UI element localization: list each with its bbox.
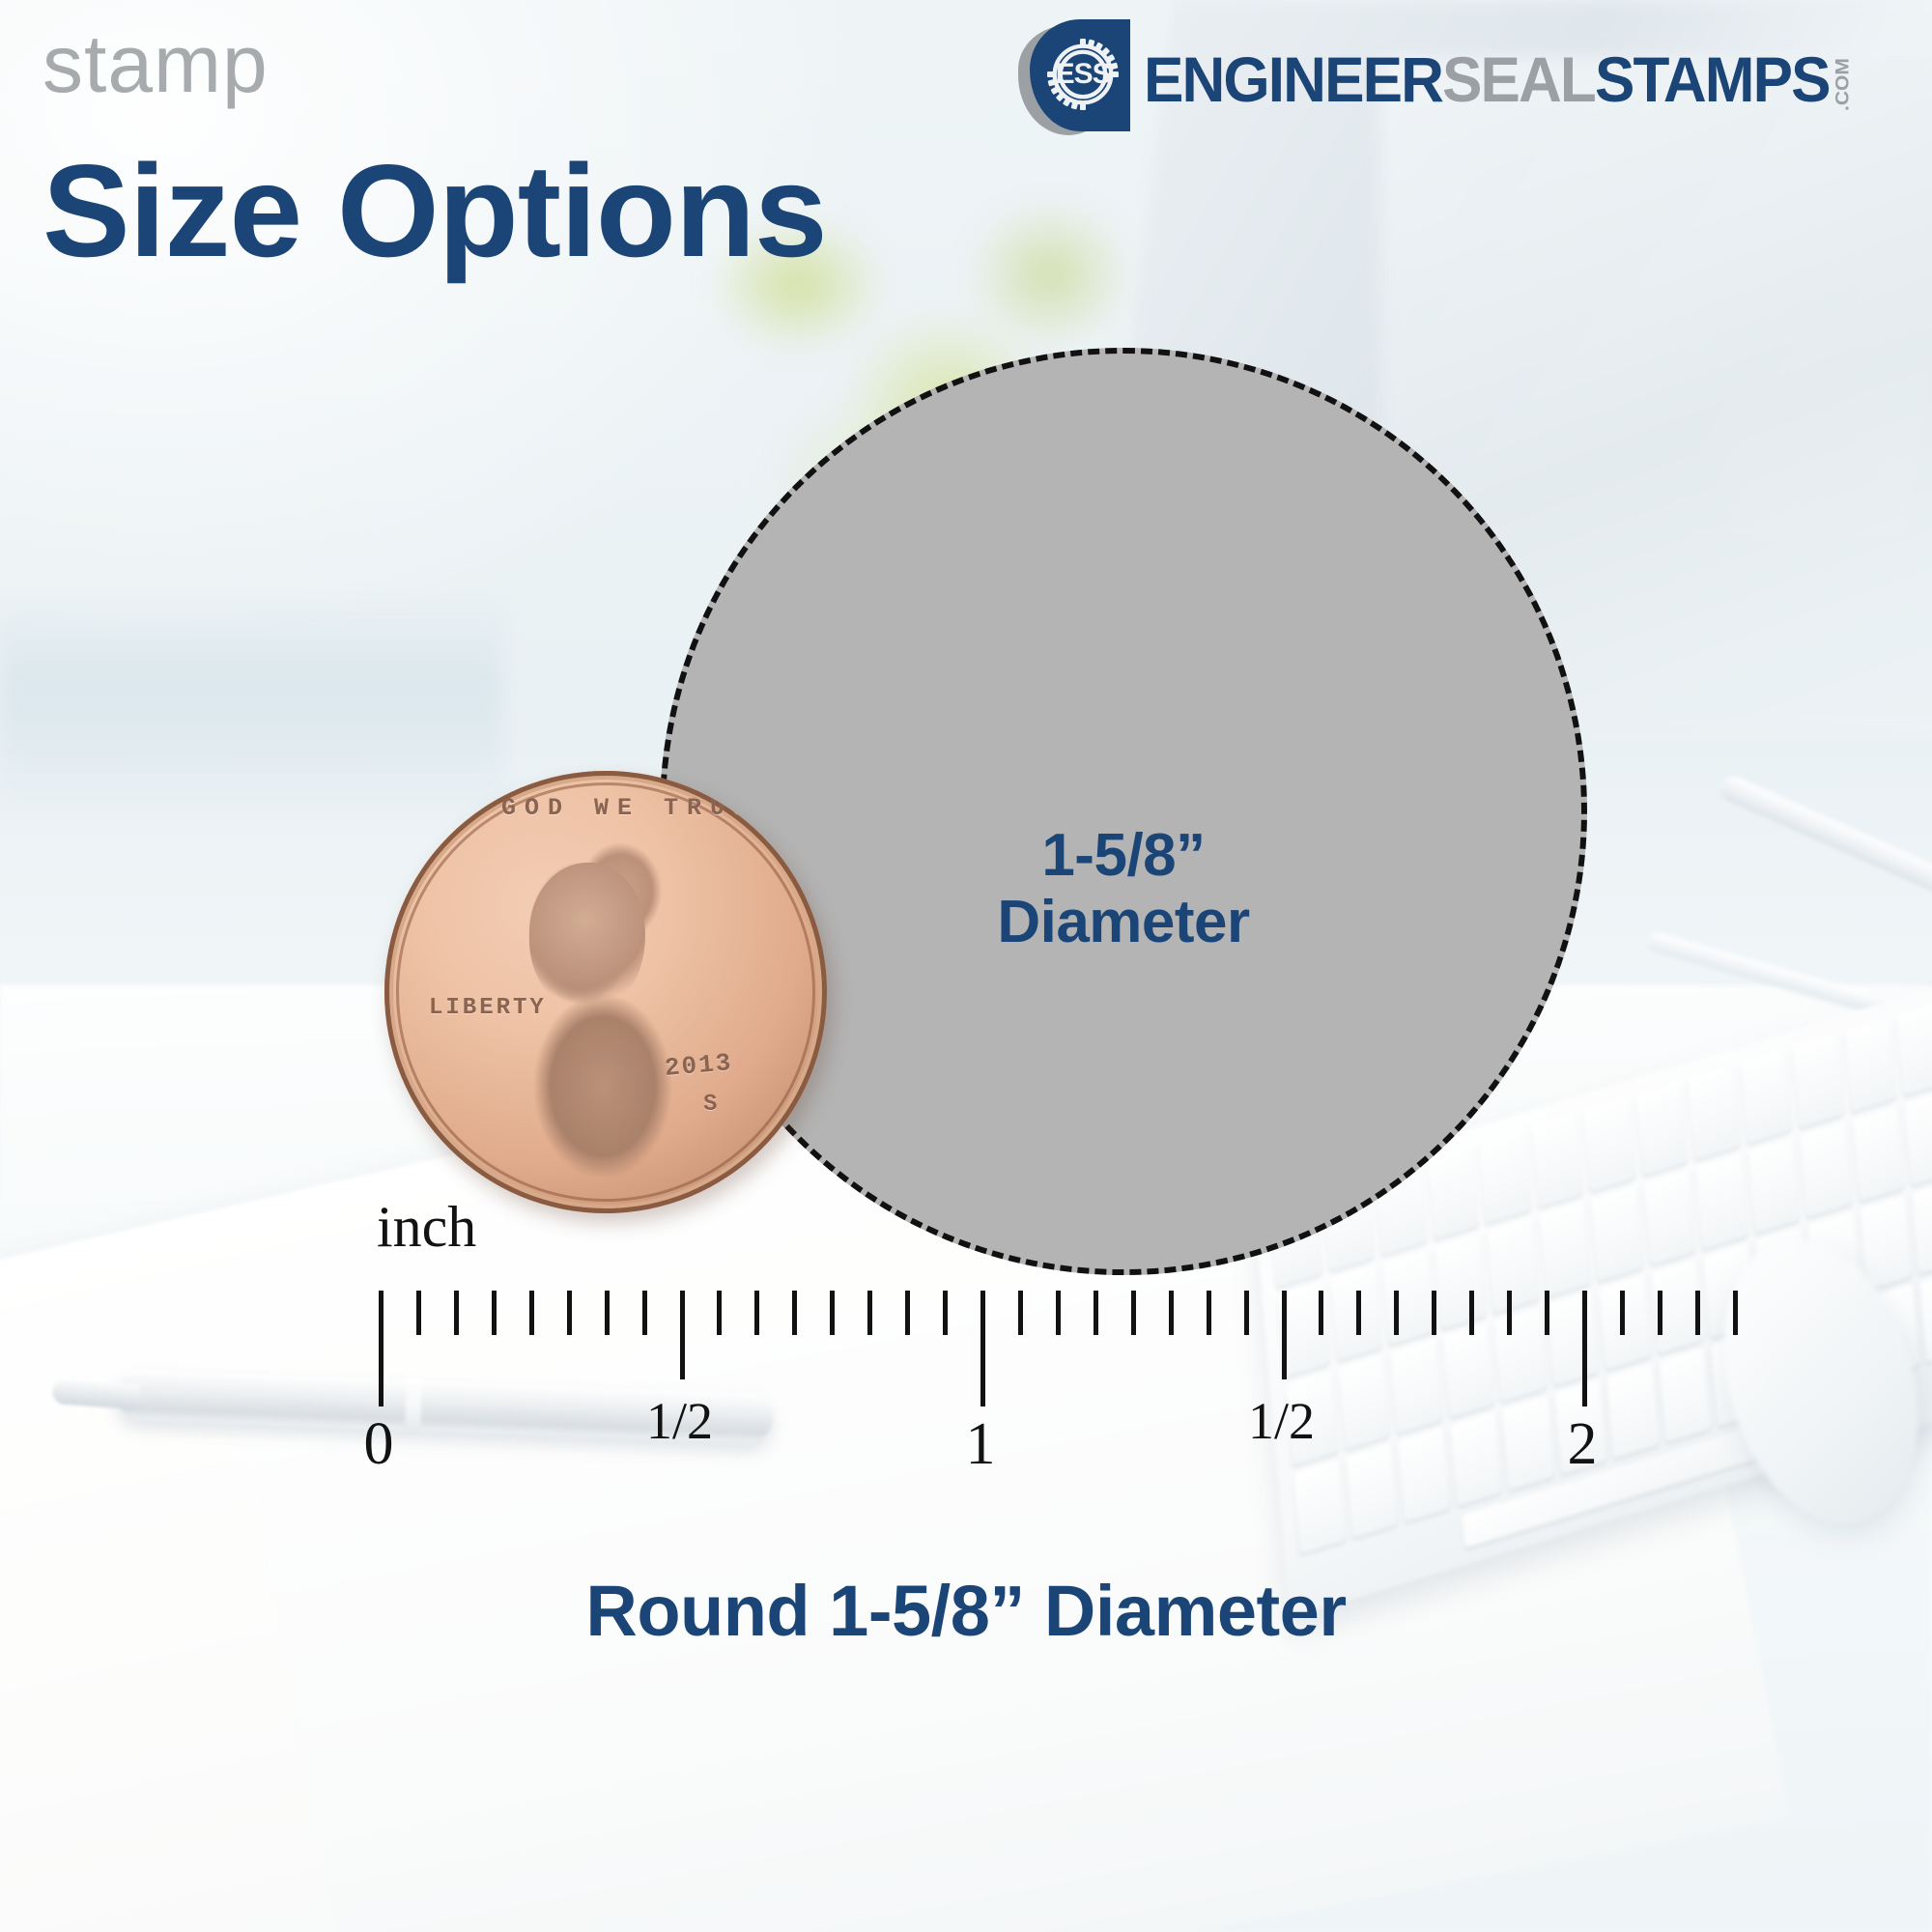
lincoln-head (529, 863, 645, 1008)
ruler-tick-minor (1131, 1291, 1136, 1335)
ruler-label: 0 (364, 1414, 394, 1474)
ruler-tick-minor (1056, 1291, 1061, 1335)
ruler-tick-minor (1507, 1291, 1512, 1335)
ruler-tick-minor (1733, 1291, 1738, 1335)
ruler-tick-half (1282, 1291, 1287, 1379)
logo-word-stamps: STAMPS (1595, 47, 1830, 111)
penny-motto: IN GOD WE TRUST (384, 794, 827, 822)
ruler-tick-minor (529, 1291, 534, 1335)
penny-liberty: LIBERTY (429, 995, 547, 1021)
ruler-label: 1/2 (646, 1395, 713, 1447)
ruler-tick-major (980, 1291, 985, 1406)
inch-ruler: 01/211/22 (379, 1291, 1932, 1484)
ruler-tick-minor (1018, 1291, 1023, 1335)
ruler-tick-minor (1356, 1291, 1361, 1335)
ruler-tick-minor (905, 1291, 910, 1335)
ruler-tick-minor (754, 1291, 759, 1335)
ruler-tick-half (680, 1291, 685, 1379)
penny-year: 2013 (664, 1048, 734, 1083)
logo-word-dotcom: .COM (1833, 49, 1852, 111)
ruler-tick-minor (792, 1291, 797, 1335)
ruler-tick-minor (642, 1291, 647, 1335)
ruler-tick-minor (492, 1291, 497, 1335)
ruler-label: 1/2 (1248, 1395, 1315, 1447)
ruler-label: 1 (966, 1414, 996, 1474)
size-circle-label: 1-5/8” Diameter (997, 822, 1249, 956)
ruler-tick-minor (1545, 1291, 1549, 1335)
ess-shield-icon: ESS (1018, 19, 1130, 139)
ruler-tick-minor (1244, 1291, 1249, 1335)
brand-logo[interactable]: ESS ENGINEER SEAL STAMPS .COM (1018, 21, 1897, 137)
ruler-tick-major (379, 1291, 384, 1406)
pen-background (1718, 773, 1932, 914)
ruler-tick-minor (1658, 1291, 1662, 1335)
ruler-tick-minor (605, 1291, 610, 1335)
size-options-graphic: stamp Size Options (0, 0, 1932, 1932)
ruler-tick-minor (943, 1291, 948, 1335)
ruler-tick-minor (1394, 1291, 1399, 1335)
ruler-tick-minor (1620, 1291, 1625, 1335)
size-caption: Round 1-5/8” Diameter (0, 1570, 1932, 1652)
ruler-label: 2 (1568, 1414, 1598, 1474)
window-light-streak (0, 599, 502, 821)
penny-mint-mark: S (703, 1092, 717, 1118)
ruler-tick-minor (1319, 1291, 1323, 1335)
logo-word-engineer: ENGINEER (1144, 47, 1442, 111)
ruler-tick-minor (1207, 1291, 1211, 1335)
ruler-tick-minor (1169, 1291, 1174, 1335)
ruler-tick-minor (717, 1291, 722, 1335)
eyebrow-label: stamp (43, 23, 269, 104)
ruler-tick-minor (1094, 1291, 1098, 1335)
size-circle-line1: 1-5/8” (997, 822, 1249, 889)
ruler-unit-label: inch (377, 1198, 476, 1256)
logo-word-seal: SEAL (1442, 47, 1595, 111)
penny-scale-reference: IN GOD WE TRUST LIBERTY 2013 S (384, 771, 827, 1213)
logo-wordmark: ENGINEER SEAL STAMPS .COM (1144, 47, 1852, 111)
page-title: Size Options (43, 145, 827, 276)
ruler-tick-minor (1469, 1291, 1474, 1335)
ruler-tick-minor (1432, 1291, 1436, 1335)
size-circle-line2: Diameter (997, 889, 1249, 955)
ruler-tick-minor (867, 1291, 872, 1335)
ruler-tick-minor (1695, 1291, 1700, 1335)
ess-monogram: ESS (1041, 33, 1124, 116)
ruler-tick-major (1582, 1291, 1587, 1406)
ruler-tick-minor (416, 1291, 421, 1335)
ruler-tick-minor (567, 1291, 572, 1335)
ruler-tick-minor (830, 1291, 835, 1335)
ruler-tick-minor (454, 1291, 459, 1335)
